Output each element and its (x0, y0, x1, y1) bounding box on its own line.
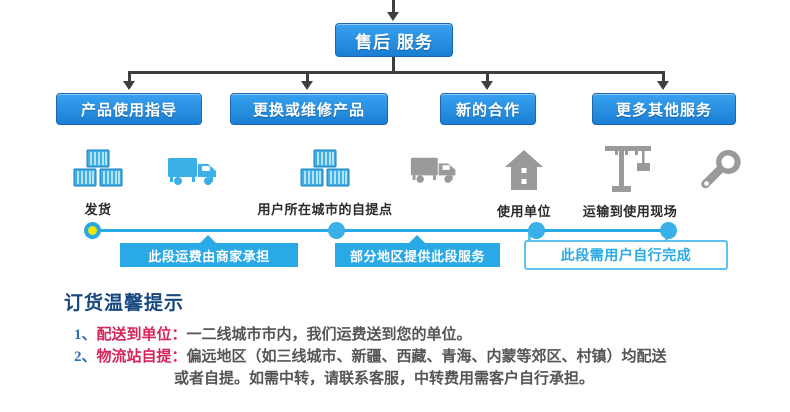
notes-title: 订货温馨提示 (64, 288, 774, 315)
stage-transit-1 (152, 148, 236, 199)
note-keyword: 配送到单位： (97, 324, 187, 346)
diagram-canvas: 售后 服务 产品使用指导 更换或维修产品 新的合作 更多其他服务 发货 (0, 0, 790, 412)
node-product-usage-guide[interactable]: 产品使用指导 (56, 93, 202, 125)
node-more-other-services[interactable]: 更多其他服务 (592, 93, 736, 125)
callout-user-completes: 此段需用户自行完成 (524, 240, 728, 270)
truck-icon (166, 148, 222, 195)
arrow-down-2-icon (301, 81, 313, 90)
note-item: 1、 配送到单位： 一二线城市市内，我们运费送到您的单位。 (74, 324, 774, 346)
truck-icon (409, 148, 461, 193)
note-number: 1、 (74, 324, 97, 346)
connector-horizontal-bar (128, 71, 665, 74)
note-keyword: 物流站自提： (97, 346, 187, 368)
timeline: 此段运费由商家承担 部分地区提供此段服务 此段需用户自行完成 (0, 205, 790, 275)
stage-transit-2 (400, 148, 470, 197)
wrench-icon (698, 148, 742, 197)
arrow-down-3-icon (481, 81, 493, 90)
containers-icon (299, 148, 351, 195)
arrow-down-1-icon (123, 81, 135, 90)
timeline-dot-end (660, 222, 677, 239)
notes-section: 订货温馨提示 1、 配送到单位： 一二线城市市内，我们运费送到您的单位。 2、 … (64, 288, 774, 390)
note-body: 一二线城市市内，我们运费送到您的单位。 (187, 324, 472, 346)
note-body: 偏远地区（如三线城市、新疆、西藏、青海、内蒙等郊区、村镇）均配送 (187, 346, 667, 368)
timeline-dot-3 (528, 222, 545, 239)
arrow-down-4-icon (657, 81, 669, 90)
containers-icon (72, 148, 124, 195)
note-item: 2、 物流站自提： 偏远地区（如三线城市、新疆、西藏、青海、内蒙等郊区、村镇）均… (74, 346, 774, 368)
stage-installation (690, 148, 750, 201)
note-number: 2、 (74, 346, 97, 368)
callout-notch-2-icon (409, 235, 425, 243)
timeline-track (90, 229, 668, 232)
node-replace-or-repair[interactable]: 更换或维修产品 (230, 93, 388, 125)
house-icon (502, 148, 546, 197)
arrow-into-root-icon (387, 12, 399, 21)
callout-notch-1-icon (200, 235, 216, 243)
node-after-sales-service[interactable]: 售后 服务 (335, 23, 453, 57)
callout-merchant-pays-freight: 此段运费由商家承担 (120, 243, 298, 267)
crane-icon (599, 146, 661, 197)
callout-partial-region-service: 部分地区提供此段服务 (335, 243, 500, 267)
note-continuation: 或者自提。如需中转，请联系客服，中转费用需客户自行承担。 (74, 368, 774, 390)
node-new-cooperation[interactable]: 新的合作 (440, 93, 536, 125)
timeline-dot-start (84, 222, 101, 239)
timeline-dot-2 (328, 222, 345, 239)
